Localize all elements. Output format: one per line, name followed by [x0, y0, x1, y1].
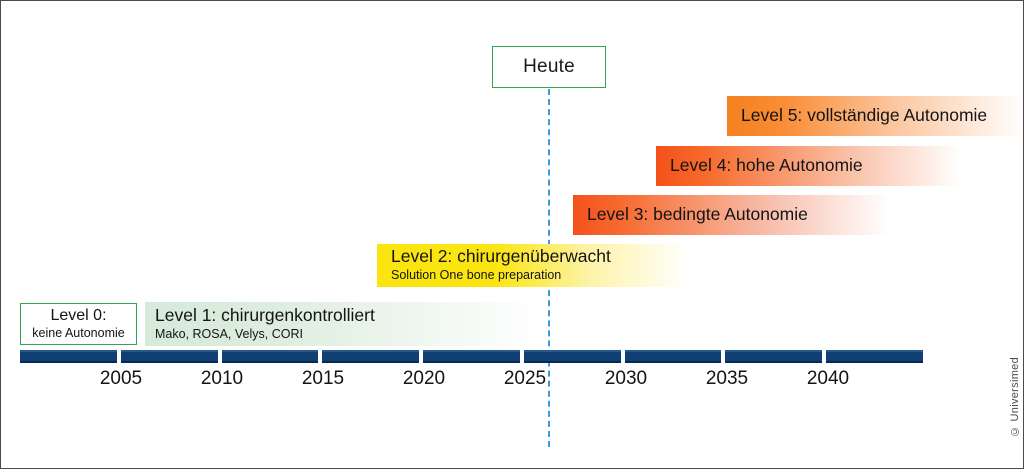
level-4-title: Level 4: hohe Autonomie — [670, 156, 961, 176]
axis-tick-label: 2005 — [81, 368, 161, 390]
axis-segment — [222, 350, 319, 363]
axis-tick-label: 2010 — [182, 368, 262, 390]
axis-segment — [121, 350, 218, 363]
today-label-text: Heute — [523, 56, 575, 78]
level-2-subtitle: Solution One bone preparation — [391, 268, 689, 282]
level-2-bar: Level 2: chirurgenüberwacht Solution One… — [377, 244, 689, 287]
level-1-title: Level 1: chirurgenkontrolliert — [155, 306, 545, 326]
copyright-credit: © Universimed — [1009, 357, 1021, 437]
level-1-subtitle: Mako, ROSA, Velys, CORI — [155, 327, 545, 341]
axis-tick-label: 2030 — [586, 368, 666, 390]
axis-segment — [725, 350, 822, 363]
level-1-bar: Level 1: chirurgenkontrolliert Mako, ROS… — [145, 302, 545, 346]
axis-segment — [625, 350, 722, 363]
level-3-title: Level 3: bedingte Autonomie — [587, 205, 889, 225]
axis-tick-label: 2025 — [485, 368, 565, 390]
timeline-axis — [20, 350, 923, 363]
level-4-bar: Level 4: hohe Autonomie — [656, 146, 961, 186]
axis-tick-label: 2020 — [384, 368, 464, 390]
axis-tick-label: 2015 — [283, 368, 363, 390]
axis-segment — [423, 350, 520, 363]
today-label-box: Heute — [492, 46, 606, 88]
timeline-figure: Heute Level 5: vollständige Autonomie Le… — [0, 0, 1024, 469]
level-3-bar: Level 3: bedingte Autonomie — [573, 195, 889, 235]
level-5-title: Level 5: vollständige Autonomie — [741, 106, 1024, 126]
axis-tick-label: 2040 — [788, 368, 868, 390]
axis-tick-label: 2035 — [687, 368, 767, 390]
timeline-tick-labels: 20052010201520202025203020352040 — [1, 368, 1024, 394]
level-0-title: Level 0: — [50, 307, 106, 325]
level-0-box: Level 0: keine Autonomie — [20, 303, 137, 345]
axis-segment — [826, 350, 923, 363]
level-0-subtitle: keine Autonomie — [32, 326, 124, 340]
axis-segment — [524, 350, 621, 363]
axis-segment — [20, 350, 117, 363]
axis-segment — [322, 350, 419, 363]
level-2-title: Level 2: chirurgenüberwacht — [391, 247, 689, 267]
level-5-bar: Level 5: vollständige Autonomie — [727, 96, 1024, 136]
